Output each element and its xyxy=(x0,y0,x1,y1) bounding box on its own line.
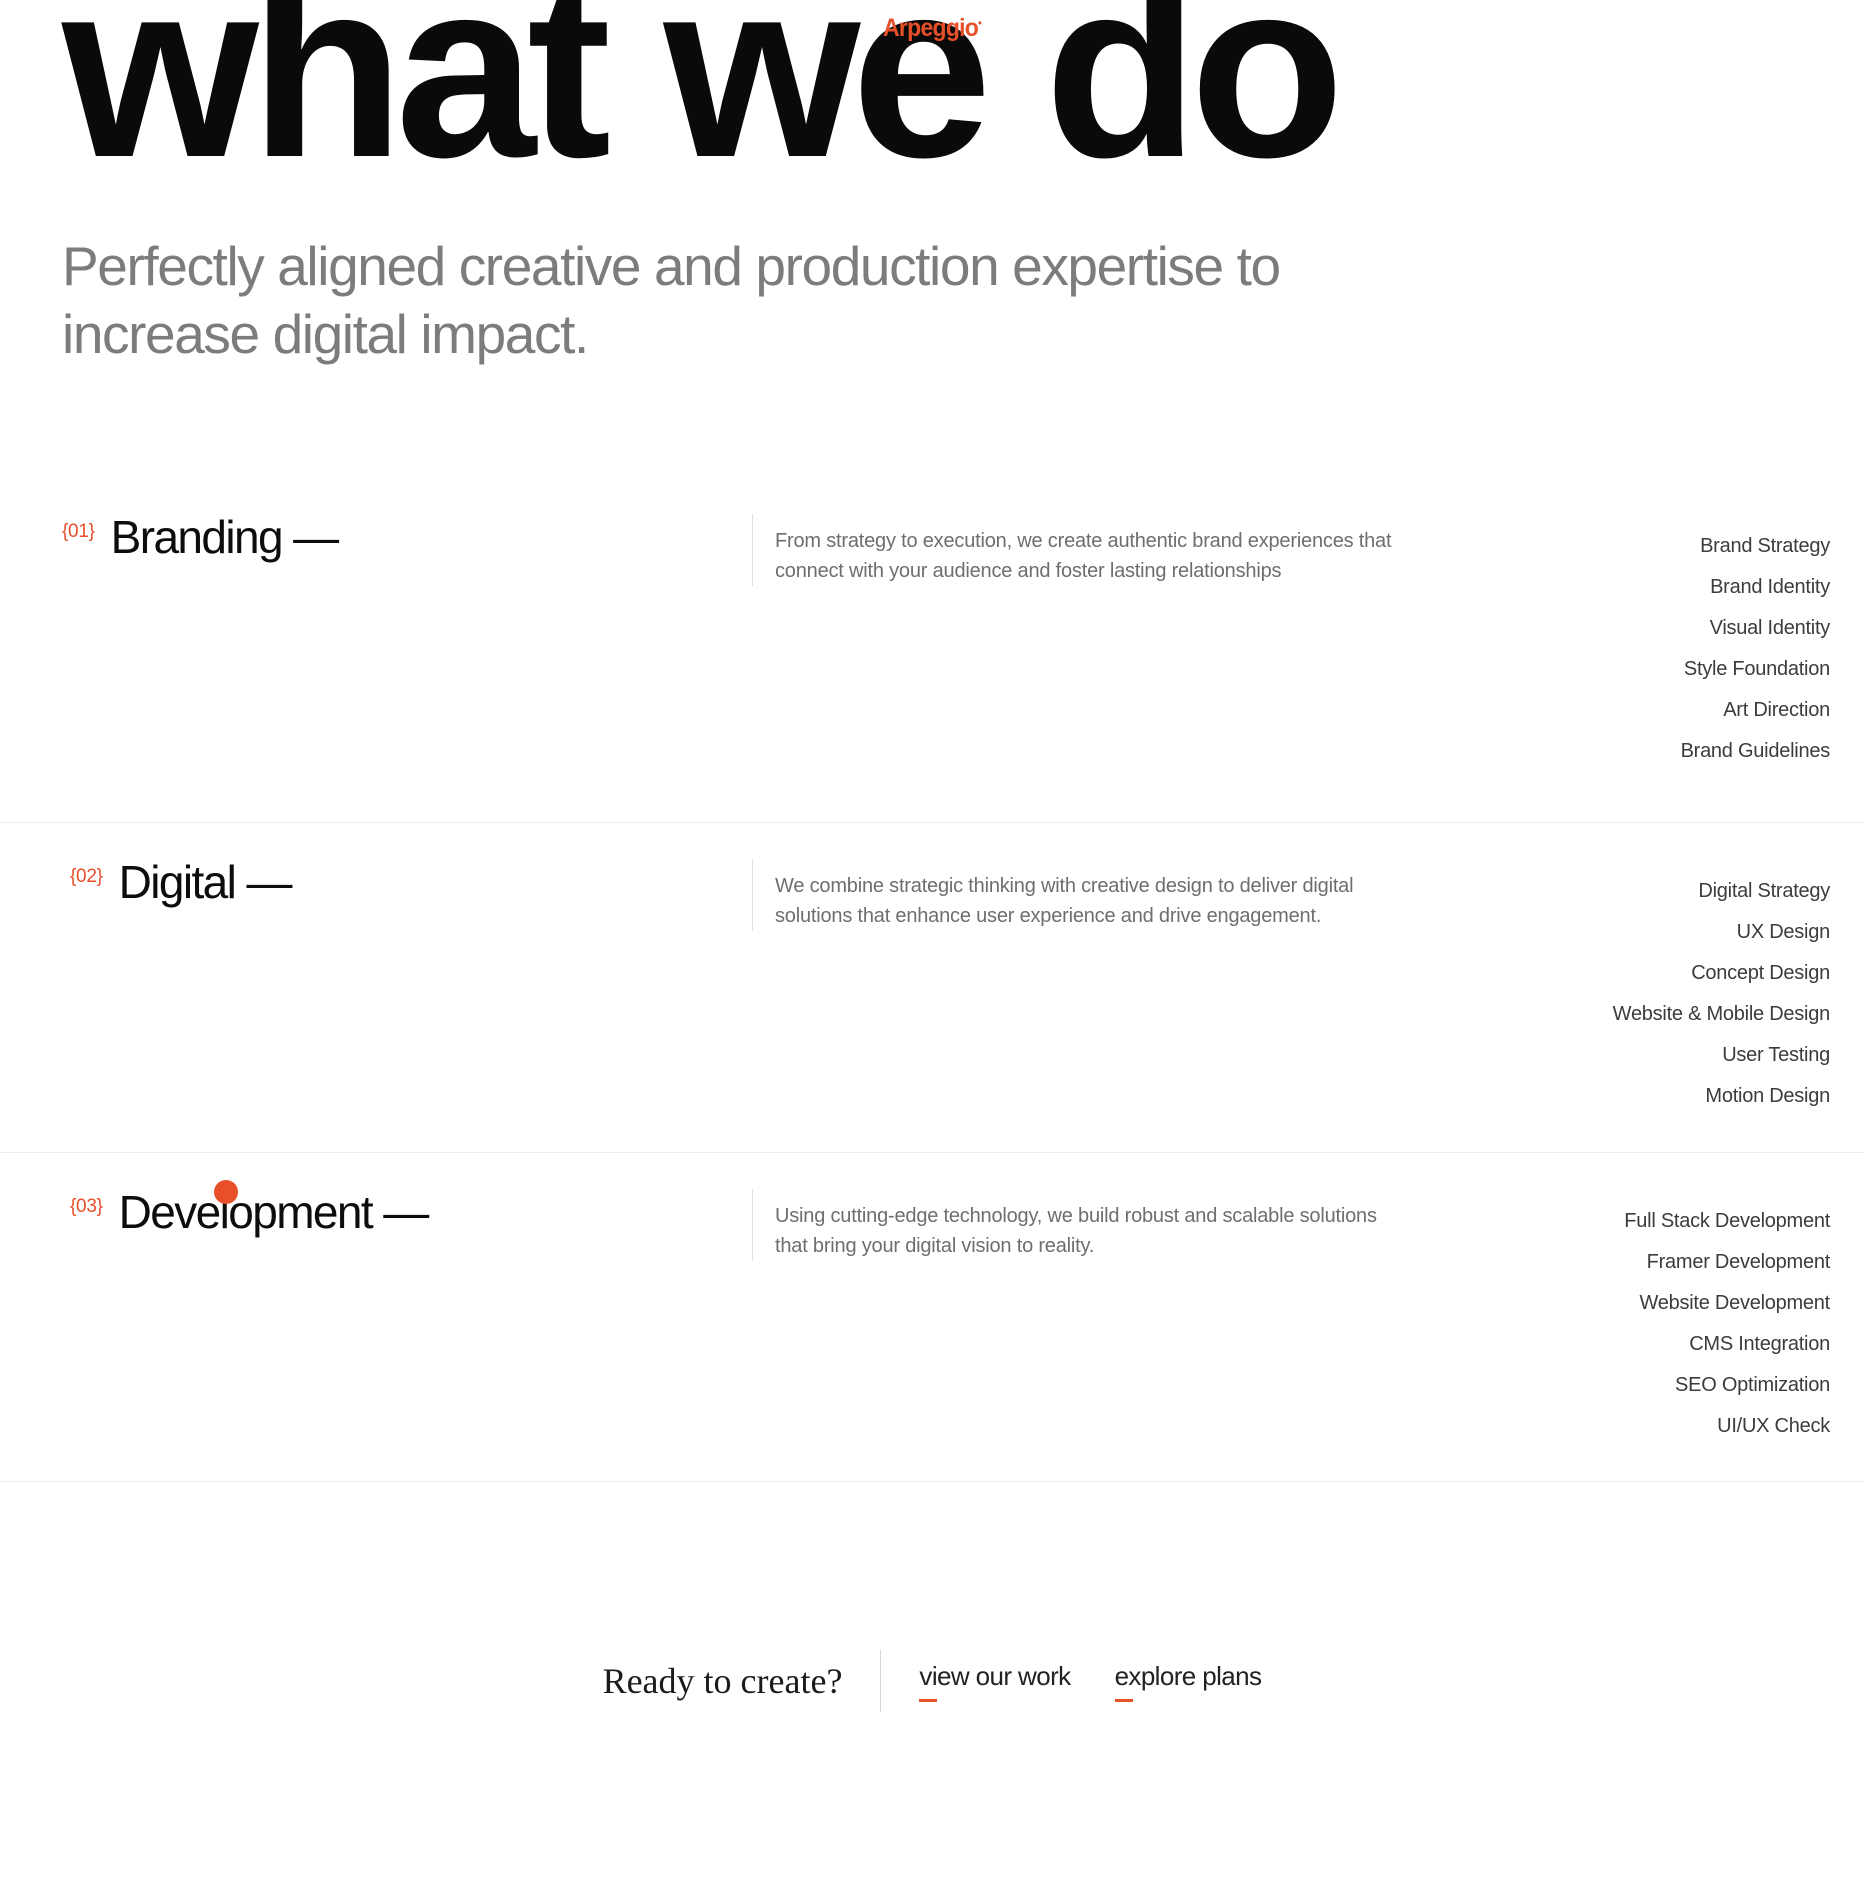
cta-section: Ready to create? view our work explore p… xyxy=(0,1650,1864,1712)
services-list: {01} Branding — From strategy to executi… xyxy=(0,492,1864,1482)
service-tag[interactable]: Digital Strategy xyxy=(1392,871,1830,912)
service-row[interactable]: {01} Branding — From strategy to executi… xyxy=(0,492,1864,822)
brand-logo-text: Arpeggio xyxy=(883,14,978,42)
service-tag[interactable]: Brand Guidelines xyxy=(1392,731,1830,772)
cursor-dot-icon xyxy=(214,1180,238,1204)
service-tag[interactable]: Motion Design xyxy=(1392,1076,1830,1117)
service-tag[interactable]: Visual Identity xyxy=(1392,608,1830,649)
hero-section: Arpeggio• what we do Perfectly aligned c… xyxy=(0,0,1864,420)
service-number: {03} xyxy=(70,1189,103,1216)
service-row[interactable]: {03} Development — Using cutting-edge te… xyxy=(0,1152,1864,1482)
brand-logo[interactable]: Arpeggio• xyxy=(75,14,1790,43)
service-dash-icon: — xyxy=(246,856,290,908)
explore-plans-link[interactable]: explore plans xyxy=(1115,1660,1262,1702)
service-number: {02} xyxy=(70,859,103,886)
service-tag[interactable]: SEO Optimization xyxy=(1392,1365,1830,1406)
service-dash-icon: — xyxy=(383,1186,427,1238)
service-tag[interactable]: Full Stack Development xyxy=(1392,1201,1830,1242)
service-tag[interactable]: Website & Mobile Design xyxy=(1392,994,1830,1035)
service-title-group: {02} Digital — xyxy=(32,859,752,905)
service-tag[interactable]: User Testing xyxy=(1392,1035,1830,1076)
service-tags: Digital Strategy UX Design Concept Desig… xyxy=(1392,859,1832,1117)
view-our-work-link[interactable]: view our work xyxy=(919,1660,1070,1702)
service-tags: Brand Strategy Brand Identity Visual Ide… xyxy=(1392,514,1832,772)
brand-logo-dot-icon: • xyxy=(978,18,981,30)
service-title-group: {01} Branding — xyxy=(32,514,752,560)
service-title-group: {03} Development — xyxy=(32,1189,752,1235)
service-tag[interactable]: Website Development xyxy=(1392,1283,1830,1324)
service-number: {01} xyxy=(62,514,95,541)
service-tag[interactable]: Style Foundation xyxy=(1392,649,1830,690)
service-description: From strategy to execution, we create au… xyxy=(775,526,1392,586)
service-name: Digital — xyxy=(119,859,291,905)
service-name: Development — xyxy=(119,1189,428,1235)
service-tag[interactable]: UX Design xyxy=(1392,912,1830,953)
hero-subtitle: Perfectly aligned creative and productio… xyxy=(62,232,1482,368)
service-tag[interactable]: UI/UX Check xyxy=(1392,1406,1830,1447)
service-tag[interactable]: Art Direction xyxy=(1392,690,1830,731)
service-tags: Full Stack Development Framer Developmen… xyxy=(1392,1189,1832,1447)
page-root: Arpeggio• what we do Perfectly aligned c… xyxy=(0,0,1864,1892)
service-tag[interactable]: CMS Integration xyxy=(1392,1324,1830,1365)
service-tag[interactable]: Concept Design xyxy=(1392,953,1830,994)
service-dash-icon: — xyxy=(293,511,337,563)
service-tag[interactable]: Brand Strategy xyxy=(1392,526,1830,567)
service-name: Branding — xyxy=(111,514,338,560)
service-description-wrap: We combine strategic thinking with creat… xyxy=(752,859,1392,931)
service-tag[interactable]: Framer Development xyxy=(1392,1242,1830,1283)
service-description: Using cutting-edge technology, we build … xyxy=(775,1201,1392,1261)
service-description: We combine strategic thinking with creat… xyxy=(775,871,1392,931)
service-description-wrap: From strategy to execution, we create au… xyxy=(752,514,1392,586)
service-row[interactable]: {02} Digital — We combine strategic thin… xyxy=(0,822,1864,1152)
cta-links: view our work explore plans xyxy=(881,1660,1261,1702)
service-description-wrap: Using cutting-edge technology, we build … xyxy=(752,1189,1392,1261)
cta-headline: Ready to create? xyxy=(603,1659,881,1703)
service-tag[interactable]: Brand Identity xyxy=(1392,567,1830,608)
